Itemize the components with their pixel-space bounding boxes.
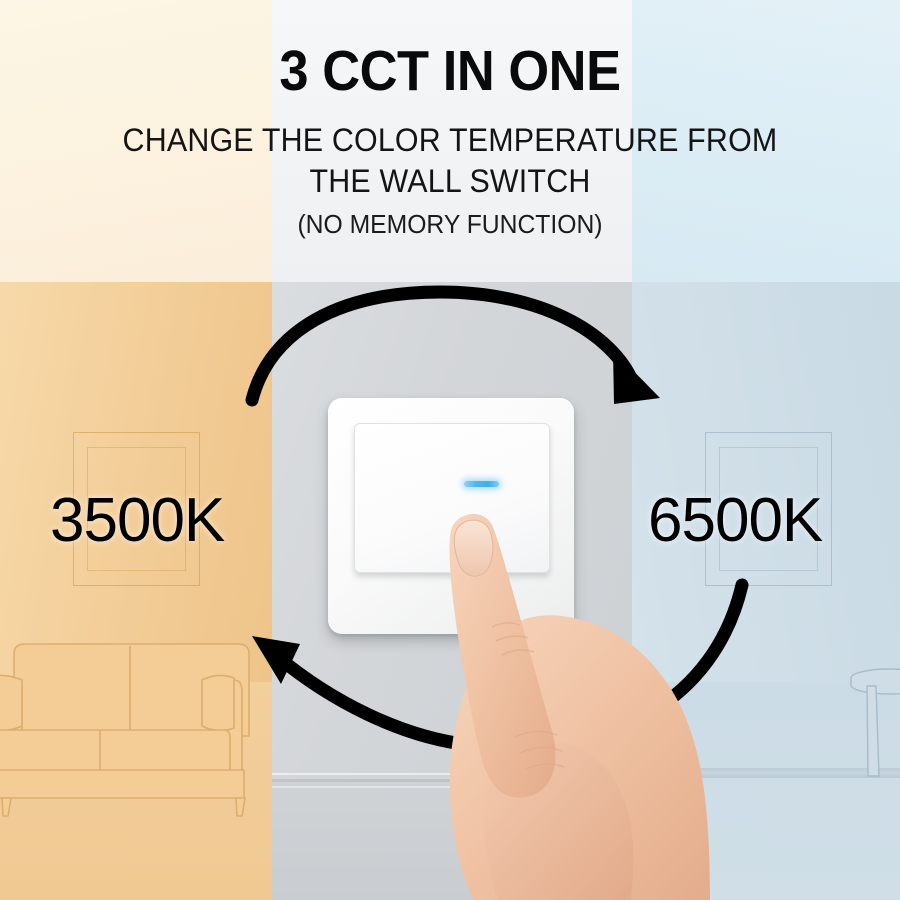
headline-block: 3 CCT IN ONE CHANGE THE COLOR TEMPERATUR… (0, 0, 900, 242)
page-title: 3 CCT IN ONE (36, 0, 864, 102)
temperature-label-warm: 3500K (50, 485, 224, 556)
temperature-label-cool: 6500K (648, 485, 822, 556)
promo-scene: 3500K 6500K 3 CCT IN ONE CHANGE THE COLO… (0, 0, 900, 900)
subtitle-line-1: CHANGE THE COLOR TEMPERATURE FROM (23, 120, 878, 161)
subtitle-note: (NO MEMORY FUNCTION) (23, 208, 878, 242)
subtitle-line-2: THE WALL SWITCH (23, 161, 878, 202)
pointing-hand (380, 505, 710, 900)
